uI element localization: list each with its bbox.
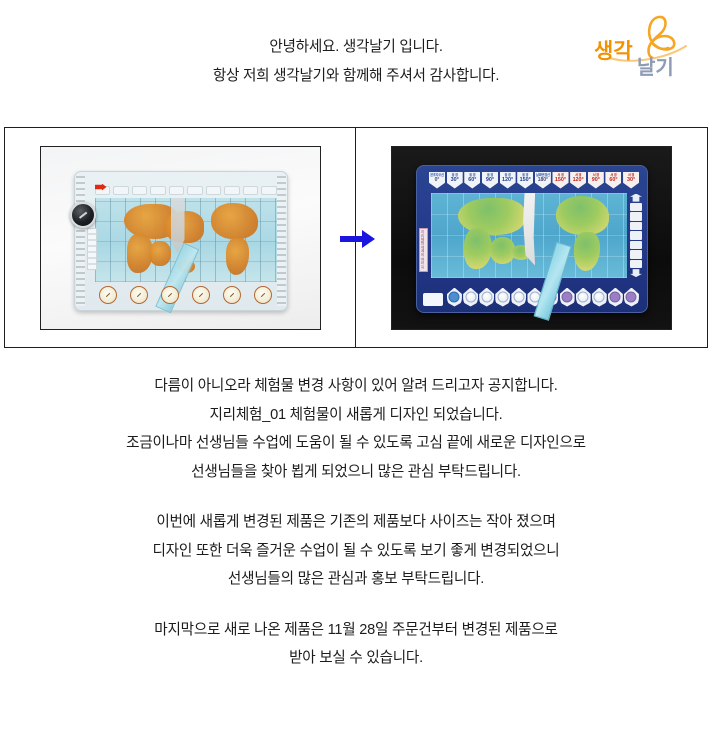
timezone-dial <box>608 288 623 307</box>
old-side-slots <box>87 228 97 270</box>
clock-icon <box>161 286 179 304</box>
old-slot <box>261 186 277 195</box>
paragraph-1: 다름이 아니오라 체험물 변경 사항이 있어 알려 드리고자 공지합니다. 지리… <box>0 372 712 486</box>
clock-icon <box>223 286 241 304</box>
longitude-tab-row: 본초자오선 0° 동 경 30° 동 경 60° 동 경 90° <box>429 172 639 189</box>
transition-arrow <box>340 228 376 250</box>
longitude-tab: 동 경 150° <box>517 172 533 189</box>
side-cap-down <box>630 269 642 277</box>
landmass <box>149 241 171 266</box>
new-world-map <box>431 193 627 278</box>
paragraph-3: 마지막으로 새로 나온 제품은 11월 28일 주문건부터 변경된 제품으로 받… <box>0 616 712 673</box>
timezone-dial <box>560 288 575 307</box>
dial-face <box>449 292 460 303</box>
timezone-dial <box>592 288 607 307</box>
timezone-dial <box>624 288 639 307</box>
old-slot <box>187 186 203 195</box>
figure-cell-before <box>5 128 356 347</box>
side-cell <box>630 203 642 211</box>
copy-line: 조금이나마 선생님들 수업에 도움이 될 수 있도록 고심 끝에 새로운 디자인… <box>0 429 712 458</box>
spiral-binding-right <box>277 176 286 306</box>
clock-icon <box>254 286 272 304</box>
photo-after: 본초자오선 0° 동 경 30° 동 경 60° 동 경 90° <box>391 146 672 330</box>
side-cell <box>630 212 642 220</box>
landmass <box>226 238 250 275</box>
landmass <box>211 203 258 240</box>
longitude-tab: 서 경 60° <box>605 172 621 189</box>
old-slot <box>132 186 148 195</box>
longitude-tab: 동 경 120° <box>500 172 516 189</box>
dial-face <box>465 292 476 303</box>
old-product-board <box>74 171 288 311</box>
side-cell <box>630 222 642 230</box>
copy-line: 다름이 아니오라 체험물 변경 사항이 있어 알려 드리고자 공지합니다. <box>0 372 712 401</box>
figure-cell-after: 본초자오선 0° 동 경 30° 동 경 60° 동 경 90° <box>356 128 707 347</box>
dial-face <box>578 292 589 303</box>
copy-line: 이번에 새롭게 변경된 제품은 기존의 제품보다 사이즈는 작아 졌으며 <box>0 508 712 537</box>
timezone-dial <box>447 288 462 307</box>
compass-icon <box>70 202 96 228</box>
arrow-right-icon <box>340 230 375 248</box>
dial-face <box>594 292 605 303</box>
old-slot-row <box>95 186 277 195</box>
spiral-binding-left <box>76 176 85 306</box>
clock-icon <box>130 286 148 304</box>
dial-face <box>513 292 524 303</box>
brand-logo: 생각 날기 <box>580 8 694 80</box>
old-clock-row <box>99 285 273 305</box>
dial-face <box>610 292 621 303</box>
new-product-board: 본초자오선 0° 동 경 30° 동 경 60° 동 경 90° <box>416 165 648 313</box>
announcement-body: 다름이 아니오라 체험물 변경 사항이 있어 알려 드리고자 공지합니다. 지리… <box>0 372 712 673</box>
dial-face <box>562 292 573 303</box>
dial-face <box>481 292 492 303</box>
side-cell <box>630 260 642 268</box>
side-cell <box>630 250 642 258</box>
dial-face <box>626 292 637 303</box>
longitude-tab: 서 경 30° <box>623 172 639 189</box>
old-slot <box>150 186 166 195</box>
timezone-dial <box>463 288 478 307</box>
logo-word-saengak: 생각 <box>594 40 633 63</box>
dial-face <box>497 292 508 303</box>
old-slot <box>206 186 222 195</box>
landmass <box>574 232 599 271</box>
page-header: 안녕하세요. 생각날기 입니다. 항상 저희 생각날기와 함께해 주셔서 감사합… <box>0 0 712 112</box>
old-slot <box>243 186 259 195</box>
board-brand-chip <box>423 293 443 306</box>
longitude-tab: 동 경 30° <box>447 172 463 189</box>
old-slot <box>224 186 240 195</box>
timezone-dial <box>479 288 494 307</box>
longitude-tab: 날짜변경선 180° <box>535 172 551 189</box>
timezone-dial <box>576 288 591 307</box>
new-side-label: 지리체험 세계의 여러 지역 시간 <box>419 228 428 272</box>
longitude-tab: 동 경 60° <box>464 172 480 189</box>
landmass <box>464 228 491 269</box>
timezone-dial <box>495 288 510 307</box>
clock-icon <box>192 286 210 304</box>
side-cell <box>630 241 642 249</box>
side-cap-up <box>630 194 642 202</box>
old-slot <box>169 186 185 195</box>
copy-line: 디자인 또한 더욱 즐거운 수업이 될 수 있도록 보기 좋게 변경되었으니 <box>0 537 712 566</box>
side-cell <box>630 231 642 239</box>
copy-line: 마지막으로 새로 나온 제품은 11월 28일 주문건부터 변경된 제품으로 <box>0 616 712 645</box>
longitude-tab: 서 경 150° <box>552 172 568 189</box>
longitude-tab: 동 경 90° <box>482 172 498 189</box>
longitude-tab: 서 경 90° <box>588 172 604 189</box>
photo-before <box>40 146 321 330</box>
copy-line: 지리체험_01 체험물이 새롭게 디자인 되었습니다. <box>0 401 712 430</box>
landmass <box>556 196 609 235</box>
old-slot <box>113 186 129 195</box>
paragraph-2: 이번에 새롭게 변경된 제품은 기존의 제품보다 사이즈는 작아 졌으며 디자인… <box>0 508 712 594</box>
copy-line: 선생님들을 찾아 뵙게 되었으니 많은 관심 부탁드립니다. <box>0 458 712 487</box>
clock-icon <box>99 286 117 304</box>
copy-line: 받아 보실 수 있습니다. <box>0 644 712 673</box>
longitude-tab: 본초자오선 0° <box>429 172 445 189</box>
landmass <box>458 198 525 235</box>
copy-line: 선생님들의 많은 관심과 홍보 부탁드립니다. <box>0 565 712 594</box>
butterfly-icon <box>649 17 675 58</box>
new-side-column <box>630 194 642 278</box>
logo-word-nalgi: 날기 <box>637 56 674 79</box>
longitude-tab: 서 경 120° <box>570 172 586 189</box>
timezone-dial <box>511 288 526 307</box>
